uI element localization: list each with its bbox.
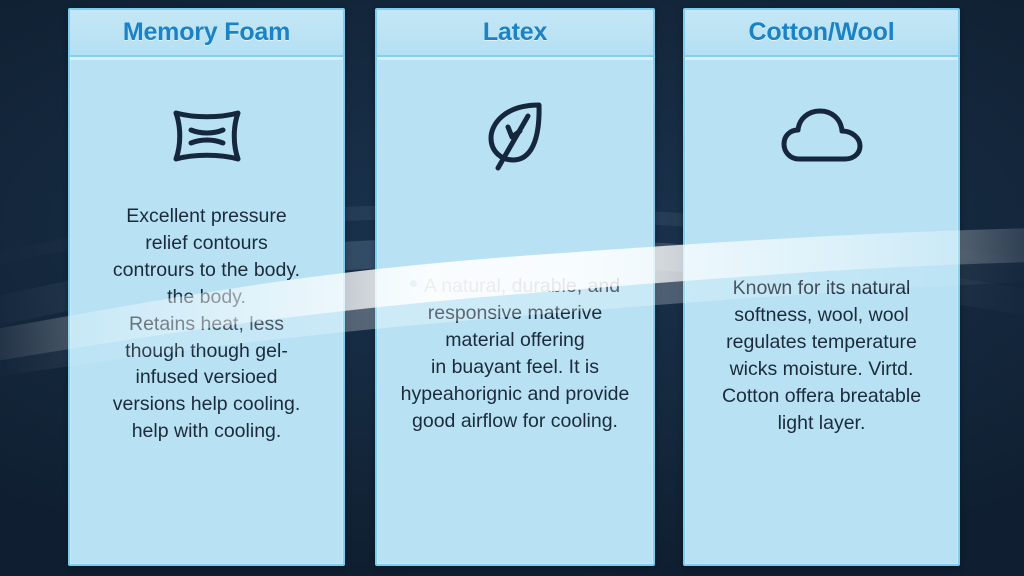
column-body-cotton-wool: Known for its natural softness, wool, wo… [685,57,958,564]
column-body-latex: A natural, durable, and responsive mater… [377,57,653,564]
column-title: Cotton/Wool [749,18,895,47]
column-header-memory-foam: Memory Foam [70,10,343,57]
desc-line: hypeahorignic and provide [391,381,639,408]
desc-line: Retains heat, less [84,311,329,338]
desc-line: versions help cooling. [84,391,329,418]
desc-line-text: A natural, durable, and [424,275,620,297]
desc-line: regulates temperature [699,329,944,356]
desc-line: Excellent pressure [84,203,329,230]
column-latex[interactable]: Latex A natural, durable, and responsive… [375,8,655,566]
desc-line: relief contours [84,230,329,257]
column-cotton-wool[interactable]: Cotton/Wool Known for its natural softne… [683,8,960,566]
desc-line: light layer. [699,410,944,437]
desc-line: material offering [391,327,639,354]
desc-line: good airflow for cooling. [391,408,639,435]
cloud-icon [781,97,863,175]
column-memory-foam[interactable]: Memory Foam Excellent pressure relief co… [68,8,345,566]
desc-line-bulleted: A natural, durable, and [391,273,639,300]
column-description: A natural, durable, and responsive mater… [391,273,639,434]
desc-line: Cotton offera breatable [699,383,944,410]
desc-line: Known for its natural [699,275,944,302]
leaf-icon [482,97,548,175]
pillow-icon [168,97,246,175]
column-description: Known for its natural softness, wool, wo… [699,275,944,436]
column-body-memory-foam: Excellent pressure relief contours contr… [70,57,343,564]
desc-line: infused versioed [84,364,329,391]
column-header-latex: Latex [377,10,653,57]
desc-line: contrours to the body. [84,257,329,284]
desc-line: help with cooling. [84,418,329,445]
desc-line: wicks moisture. Virtd. [699,356,944,383]
bullet-marker [410,280,417,287]
comparison-columns: Memory Foam Excellent pressure relief co… [0,0,1024,576]
column-title: Latex [483,18,547,47]
column-description: Excellent pressure relief contours contr… [84,203,329,445]
desc-line: softness, wool, wool [699,302,944,329]
column-title: Memory Foam [123,18,290,47]
desc-line: though though gel- [84,338,329,365]
desc-line: the body. [84,284,329,311]
column-header-cotton-wool: Cotton/Wool [685,10,958,57]
desc-line: responsive materive [391,300,639,327]
desc-line: in buayant feel. It is [391,354,639,381]
